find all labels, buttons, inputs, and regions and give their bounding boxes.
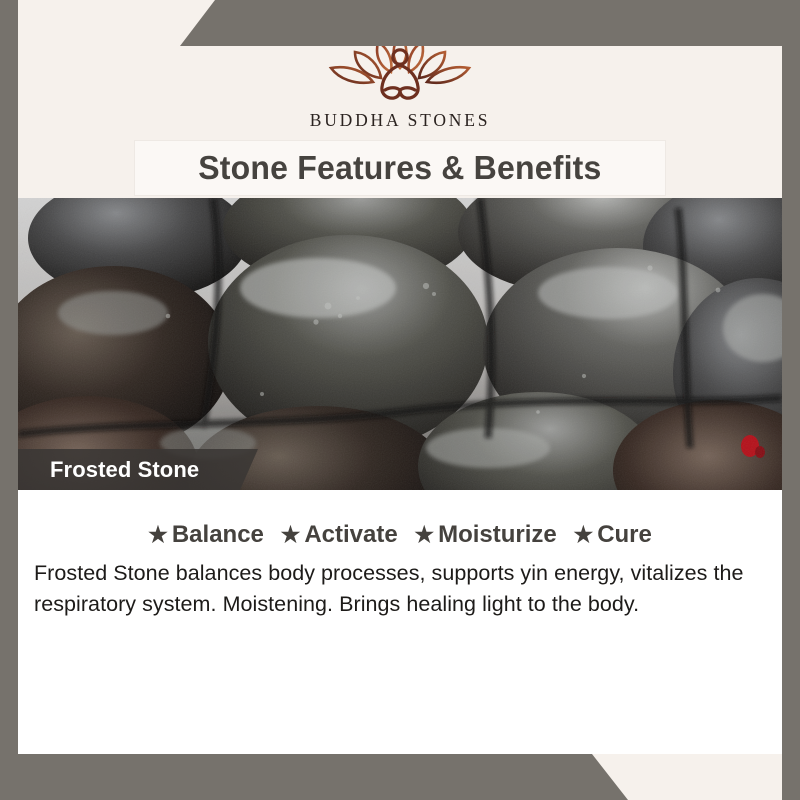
star-icon: ★ [573,522,593,547]
benefit-label: Activate [304,521,397,548]
product-description: Frosted Stone balances body processes, s… [34,558,764,620]
product-photo [18,198,782,490]
page-title: Stone Features & Benefits [198,149,601,187]
benefit-item: ★Moisturize [414,521,556,549]
benefit-label: Cure [597,521,652,548]
benefit-item: ★Balance [148,521,264,549]
benefits-list: ★Balance ★Activate ★Moisturize ★Cure [18,521,782,549]
frame-left-bar [0,0,18,800]
frame-right-bar [782,0,800,800]
frame-bottom-bar [0,754,800,800]
benefit-label: Balance [172,521,264,548]
photo-label-bar: Frosted Stone [18,449,258,490]
photo-label: Frosted Stone [18,457,199,483]
brand-name: BUDDHA STONES [310,110,490,131]
star-icon: ★ [148,522,168,547]
title-banner: Stone Features & Benefits [135,141,665,195]
star-icon: ★ [414,522,434,547]
benefit-item: ★Cure [573,521,651,549]
benefit-item: ★Activate [281,521,398,549]
infographic-canvas: BUDDHA STONES Stone Features & Benefits [0,0,800,800]
benefit-label: Moisturize [438,521,557,548]
star-icon: ★ [281,522,301,547]
